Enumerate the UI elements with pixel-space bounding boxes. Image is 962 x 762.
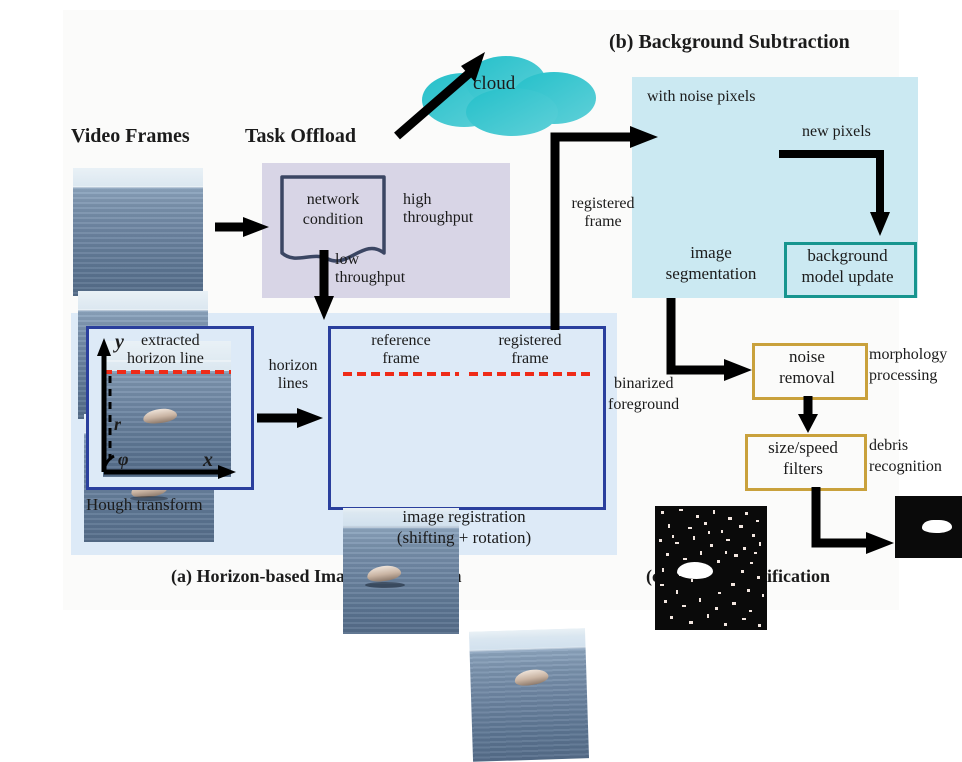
section-b-caption: (b) Background Subtraction: [609, 32, 850, 54]
hough-axis-y-label: y: [115, 332, 124, 354]
debris-output-image: [895, 496, 962, 558]
registration-caption-line2: (shifting + rotation): [328, 529, 600, 547]
registered-horizon-line: [469, 372, 591, 376]
arrow-network-to-registration: [311, 250, 337, 322]
network-condition-label-line2: condition: [282, 211, 384, 228]
arrow-noise-to-filters: [796, 396, 820, 434]
hough-axis-x-label: x: [203, 450, 213, 472]
arrow-frames-to-network: [215, 215, 275, 239]
registered-frame-edge-label-line2: frame: [558, 213, 648, 230]
background-model-update-line1: background: [784, 247, 911, 265]
arrow-new-pixels-to-update: [779, 148, 899, 238]
registered-frame-photo: [469, 628, 589, 762]
debris-recognition-label-line2: recognition: [869, 458, 942, 475]
horizon-lines-label-line1: horizon: [253, 357, 333, 374]
arrow-hough-to-registration: [257, 406, 327, 430]
hough-axes: [96, 332, 236, 480]
debris-object: [366, 564, 402, 584]
video-frame-back: [73, 168, 203, 296]
binarized-foreground-label-line1: binarized: [614, 375, 674, 392]
new-pixels-label: new pixels: [802, 123, 871, 140]
hough-angle-label: φ: [118, 450, 129, 469]
video-frames-title: Video Frames: [71, 126, 190, 148]
detected-debris-blob: [677, 562, 713, 579]
high-throughput-label-line1: high: [403, 191, 431, 208]
binarized-foreground-label-line2: foreground: [608, 396, 679, 413]
arrow-segmentation-to-noise-removal: [664, 298, 754, 398]
background-model-update-line2: model update: [784, 268, 911, 286]
noise-removal-label-line1: noise: [752, 348, 862, 366]
debris-shadow: [365, 582, 405, 588]
high-throughput-label-line2: throughput: [403, 209, 473, 226]
task-offload-title: Task Offload: [245, 126, 356, 148]
morphology-processing-label-line1: morphology: [869, 346, 947, 363]
figure-canvas: Video Frames Task Offload (b) Background…: [63, 10, 899, 610]
low-throughput-label-line1: low: [335, 251, 359, 268]
registered-frame-label-line2: frame: [467, 350, 593, 367]
size-speed-filters-label-line2: filters: [745, 460, 861, 478]
size-speed-filters-label-line1: size/speed: [745, 439, 861, 457]
image-segmentation-label-line2: segmentation: [641, 265, 781, 283]
reference-frame-label-line2: frame: [340, 350, 462, 367]
with-noise-pixels-label: with noise pixels: [647, 88, 755, 105]
low-throughput-label-line2: throughput: [335, 269, 405, 286]
noise-removal-label-line2: removal: [752, 369, 862, 387]
segmentation-noise-image: [655, 506, 767, 630]
morphology-processing-label-line2: processing: [869, 367, 937, 384]
registration-caption-line1: image registration: [328, 508, 600, 526]
arrow-network-to-cloud: [389, 50, 499, 142]
image-segmentation-label-line1: image: [641, 244, 781, 262]
reference-frame-photo: [343, 508, 459, 634]
hough-radius-label: r: [114, 415, 121, 434]
debris-recognition-label-line1: debris: [869, 437, 908, 454]
reference-horizon-line: [343, 372, 459, 376]
debris-object: [513, 667, 549, 688]
hough-transform-caption: Hough transform: [86, 496, 203, 514]
horizon-lines-label-line2: lines: [253, 375, 333, 392]
reference-frame-label-line1: reference: [340, 332, 462, 349]
network-condition-label-line1: network: [282, 191, 384, 208]
registered-frame-edge-label-line1: registered: [558, 195, 648, 212]
detected-debris-blob: [922, 520, 952, 533]
